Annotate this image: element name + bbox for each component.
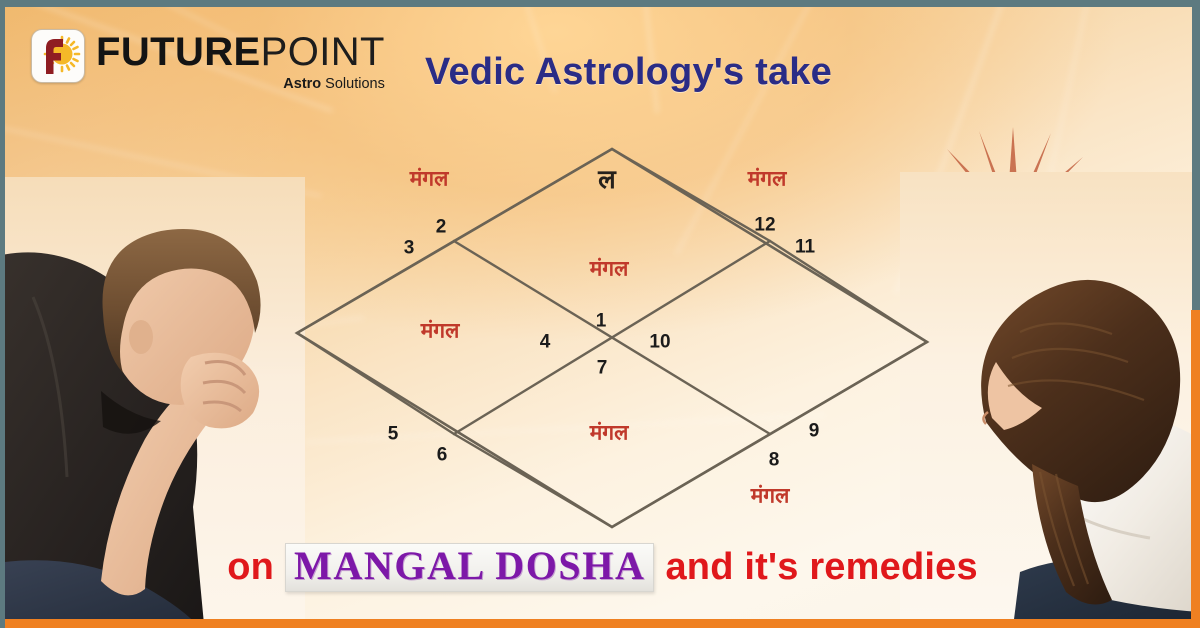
planet-label-1: मंगल [590,259,629,280]
frame-right-top [1192,7,1200,310]
house-number-11: 11 [795,238,815,257]
brand-logo[interactable]: FUTUREPOINT Astro Solutions [31,29,385,92]
planet-label-7: मंगल [590,423,629,444]
logo-sub-thin: Solutions [321,76,385,92]
house-number-6: 6 [437,446,448,465]
subtitle-suffix: and it's remedies [665,546,977,589]
house-number-4: 4 [540,333,551,352]
logo-title-bold: FUTURE [96,30,261,74]
kundli-chart-diagram [287,137,937,537]
subtitle-prefix: on [227,546,274,589]
lagna-label-1: ल [598,166,616,192]
logo-title-thin: POINT [261,30,385,74]
logo-sub-bold: Astro [283,76,321,92]
planet-label-12: मंगल [748,169,787,190]
house-number-2: 2 [436,218,447,237]
house-number-7: 7 [597,359,608,378]
house-number-8: 8 [769,451,780,470]
frame-right-orange [1191,310,1200,628]
brand-wordmark: FUTUREPOINT Astro Solutions [96,29,385,92]
banner-root: FUTUREPOINT Astro Solutions Vedic Astrol… [0,0,1200,628]
house-number-10: 10 [649,333,670,352]
subtitle-keyword: MANGAL DOSHA [294,543,645,588]
planet-label-8: मंगल [751,486,790,507]
subtitle-bar: on MANGAL DOSHA and it's remedies [5,543,1200,592]
planet-label-2: मंगल [410,169,449,190]
house-number-12: 12 [754,216,775,235]
house-number-9: 9 [809,422,820,441]
headline-text: Vedic Astrology's take [425,51,832,94]
house-number-1: 1 [596,312,607,331]
frame-bottom-orange [5,619,1200,628]
futurepoint-sun-f-logo-icon [31,29,85,83]
house-number-5: 5 [388,425,399,444]
keyword-highlight-box: MANGAL DOSHA [285,543,654,592]
kundli-chart: मंगललमंगल212311मंगलमंगल141075मंगल968मंगल [287,137,937,537]
planet-label-4: मंगल [421,321,460,342]
house-number-3: 3 [404,239,415,258]
